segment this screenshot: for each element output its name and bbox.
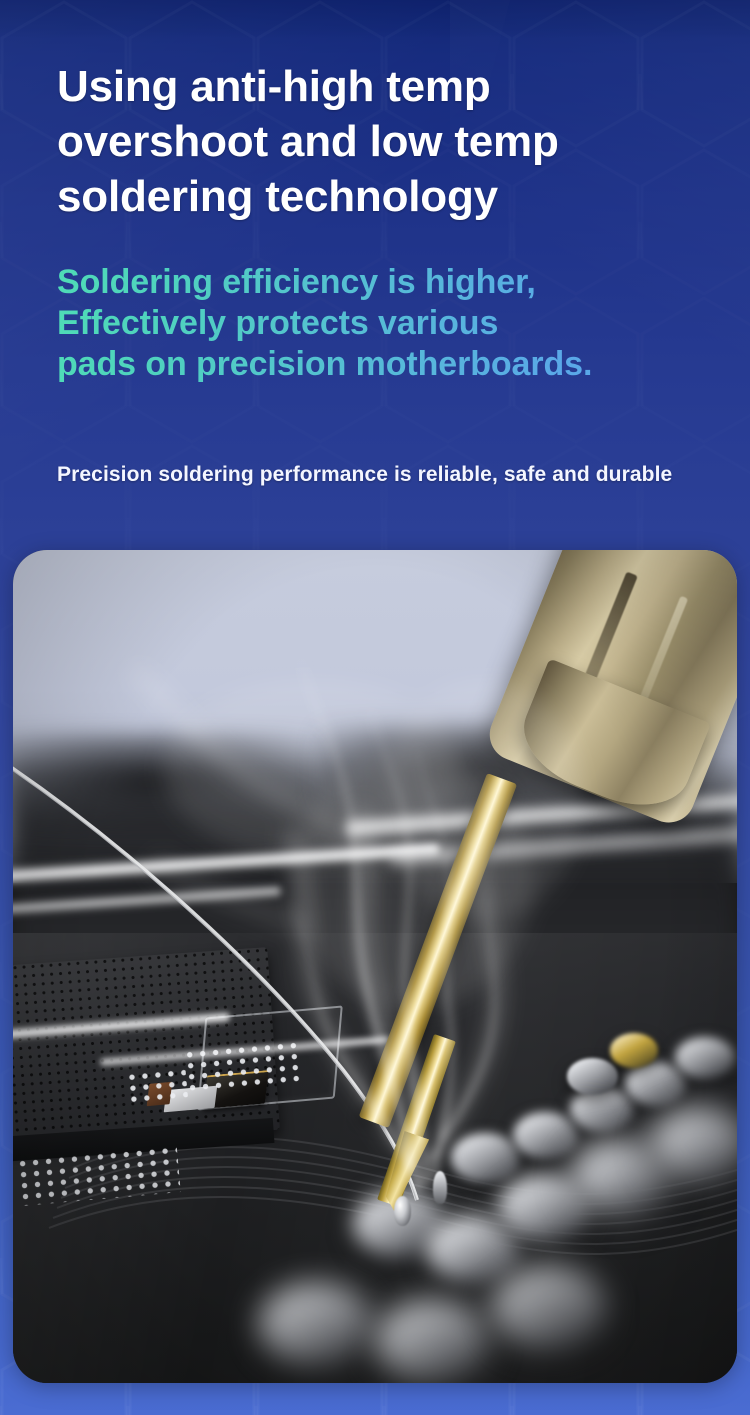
photo-vignette [13, 550, 737, 1383]
hero-tagline: Precision soldering performance is relia… [57, 463, 672, 487]
banner-page: Using anti-high temp overshoot and low t… [0, 0, 750, 1415]
hero-subheading: Soldering efficiency is higher, Effectiv… [57, 262, 677, 385]
hero-product-photo [13, 550, 737, 1383]
page-title: Using anti-high temp overshoot and low t… [57, 59, 697, 224]
